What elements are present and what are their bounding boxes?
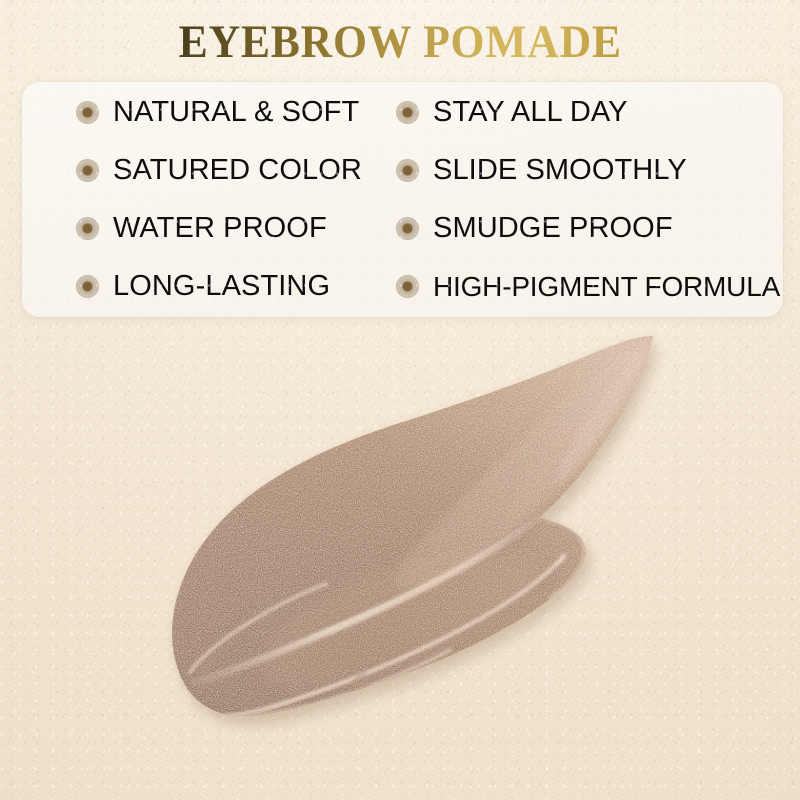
page-title: EYEBROW POMADE bbox=[178, 19, 621, 66]
bullet-dot-icon bbox=[396, 159, 419, 182]
feature-label: NATURAL & SOFT bbox=[113, 98, 359, 127]
feature-label: WATER PROOF bbox=[113, 214, 327, 243]
feature-label: LONG-LASTING bbox=[113, 272, 330, 301]
feature-item-water-proof: WATER PROOF bbox=[76, 200, 406, 258]
feature-item-stay-all-day: STAY ALL DAY bbox=[396, 84, 783, 142]
feature-label: HIGH-PIGMENT FORMULA bbox=[433, 273, 780, 301]
feature-column-right: STAY ALL DAY SLIDE SMOOTHLY SMUDGE PROOF… bbox=[396, 82, 783, 317]
bullet-dot-icon bbox=[76, 101, 99, 124]
feature-label: STAY ALL DAY bbox=[433, 98, 628, 127]
feature-item-smudge-proof: SMUDGE PROOF bbox=[396, 200, 783, 258]
feature-item-satured-color: SATURED COLOR bbox=[76, 142, 406, 200]
feature-label: SMUDGE PROOF bbox=[433, 214, 673, 243]
bullet-dot-icon bbox=[396, 217, 419, 240]
feature-item-high-pigment-formula: HIGH-PIGMENT FORMULA bbox=[396, 258, 783, 316]
feature-item-natural-and-soft: NATURAL & SOFT bbox=[76, 84, 406, 142]
feature-list-card: NATURAL & SOFT SATURED COLOR WATER PROOF… bbox=[22, 82, 783, 317]
feature-item-slide-smoothly: SLIDE SMOOTHLY bbox=[396, 142, 783, 200]
bullet-dot-icon bbox=[76, 217, 99, 240]
bullet-dot-icon bbox=[76, 275, 99, 298]
bullet-dot-icon bbox=[76, 159, 99, 182]
page-title-container: EYEBROW POMADE bbox=[0, 14, 800, 70]
feature-item-long-lasting: LONG-LASTING bbox=[76, 258, 406, 316]
product-graphic-canvas: EYEBROW POMADE NATURAL & SOFT SATURED CO… bbox=[0, 0, 800, 800]
pomade-smear-swatch bbox=[150, 320, 710, 780]
feature-label: SATURED COLOR bbox=[113, 156, 362, 185]
bullet-dot-icon bbox=[396, 275, 419, 298]
feature-label: SLIDE SMOOTHLY bbox=[433, 156, 687, 185]
feature-column-left: NATURAL & SOFT SATURED COLOR WATER PROOF… bbox=[76, 82, 406, 317]
bullet-dot-icon bbox=[396, 101, 419, 124]
